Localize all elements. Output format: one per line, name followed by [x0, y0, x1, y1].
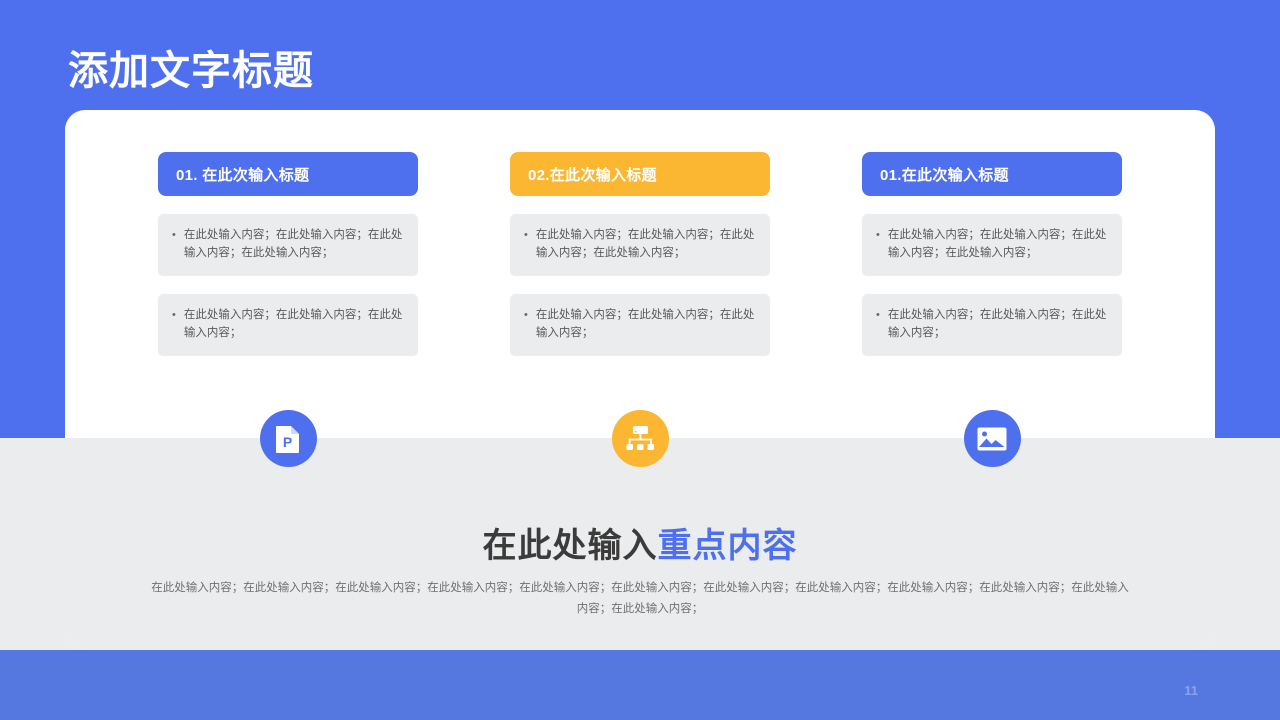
bullet-dot-icon: •	[168, 226, 184, 244]
page-number: 11	[1184, 683, 1198, 698]
bullet-dot-icon: •	[520, 306, 536, 324]
svg-text:P: P	[283, 434, 292, 450]
column-2-bullet-box-2: • 在此处输入内容；在此处输入内容；在此处输入内容；	[510, 294, 770, 356]
column-2-bullet-text-2: 在此处输入内容；在此处输入内容；在此处输入内容；	[536, 306, 756, 342]
powerpoint-file-icon[interactable]: P	[260, 410, 317, 467]
icon-slot-3	[862, 410, 1122, 467]
page-title: 添加文字标题	[68, 48, 314, 94]
column-1-bullet-text-2: 在此处输入内容；在此处输入内容；在此处输入内容；	[184, 306, 404, 342]
column-2-bullet-box-1: • 在此处输入内容；在此处输入内容；在此处输入内容；在此处输入内容；	[510, 214, 770, 276]
icons-row: P	[158, 410, 1122, 467]
summary-paragraph: 在此处输入内容；在此处输入内容；在此处输入内容；在此处输入内容；在此处输入内容；…	[150, 578, 1130, 620]
icon-slot-1: P	[158, 410, 418, 467]
summary-headline: 在此处输入重点内容	[65, 518, 1215, 567]
column-3-bullet-box-1: • 在此处输入内容；在此处输入内容；在此处输入内容；在此处输入内容；	[862, 214, 1122, 276]
slide-canvas: 添加文字标题 01. 在此次输入标题 • 在此处输入内容；在此处输入内容；在此处…	[0, 0, 1280, 720]
column-1-bullet-text-1: 在此处输入内容；在此处输入内容；在此处输入内容；在此处输入内容；	[184, 226, 404, 262]
bullet-dot-icon: •	[168, 306, 184, 324]
column-3-bullet-text-1: 在此处输入内容；在此处输入内容；在此处输入内容；在此处输入内容；	[888, 226, 1108, 262]
column-2-header[interactable]: 02.在此次输入标题	[510, 152, 770, 196]
summary-headline-accent: 重点内容	[658, 527, 798, 565]
column-2-bullet-text-1: 在此处输入内容；在此处输入内容；在此处输入内容；在此处输入内容；	[536, 226, 756, 262]
column-3-bullet-box-2: • 在此处输入内容；在此处输入内容；在此处输入内容；	[862, 294, 1122, 356]
sitemap-hierarchy-icon[interactable]	[612, 410, 669, 467]
bullet-dot-icon: •	[520, 226, 536, 244]
image-picture-icon[interactable]	[964, 410, 1021, 467]
columns-container: 01. 在此次输入标题 • 在此处输入内容；在此处输入内容；在此处输入内容；在此…	[158, 152, 1122, 356]
column-3: 01.在此次输入标题 • 在此处输入内容；在此处输入内容；在此处输入内容；在此处…	[862, 152, 1122, 356]
bullet-dot-icon: •	[872, 226, 888, 244]
column-3-bullet-text-2: 在此处输入内容；在此处输入内容；在此处输入内容；	[888, 306, 1108, 342]
icon-slot-2	[510, 410, 770, 467]
column-1-bullet-box-1: • 在此处输入内容；在此处输入内容；在此处输入内容；在此处输入内容；	[158, 214, 418, 276]
column-3-header[interactable]: 01.在此次输入标题	[862, 152, 1122, 196]
column-1-bullet-box-2: • 在此处输入内容；在此处输入内容；在此处输入内容；	[158, 294, 418, 356]
summary-headline-plain: 在此处输入	[483, 527, 658, 565]
column-1: 01. 在此次输入标题 • 在此处输入内容；在此处输入内容；在此处输入内容；在此…	[158, 152, 418, 356]
column-2: 02.在此次输入标题 • 在此处输入内容；在此处输入内容；在此处输入内容；在此处…	[510, 152, 770, 356]
column-1-header[interactable]: 01. 在此次输入标题	[158, 152, 418, 196]
bullet-dot-icon: •	[872, 306, 888, 324]
content-card: 01. 在此次输入标题 • 在此处输入内容；在此处输入内容；在此处输入内容；在此…	[65, 110, 1215, 650]
